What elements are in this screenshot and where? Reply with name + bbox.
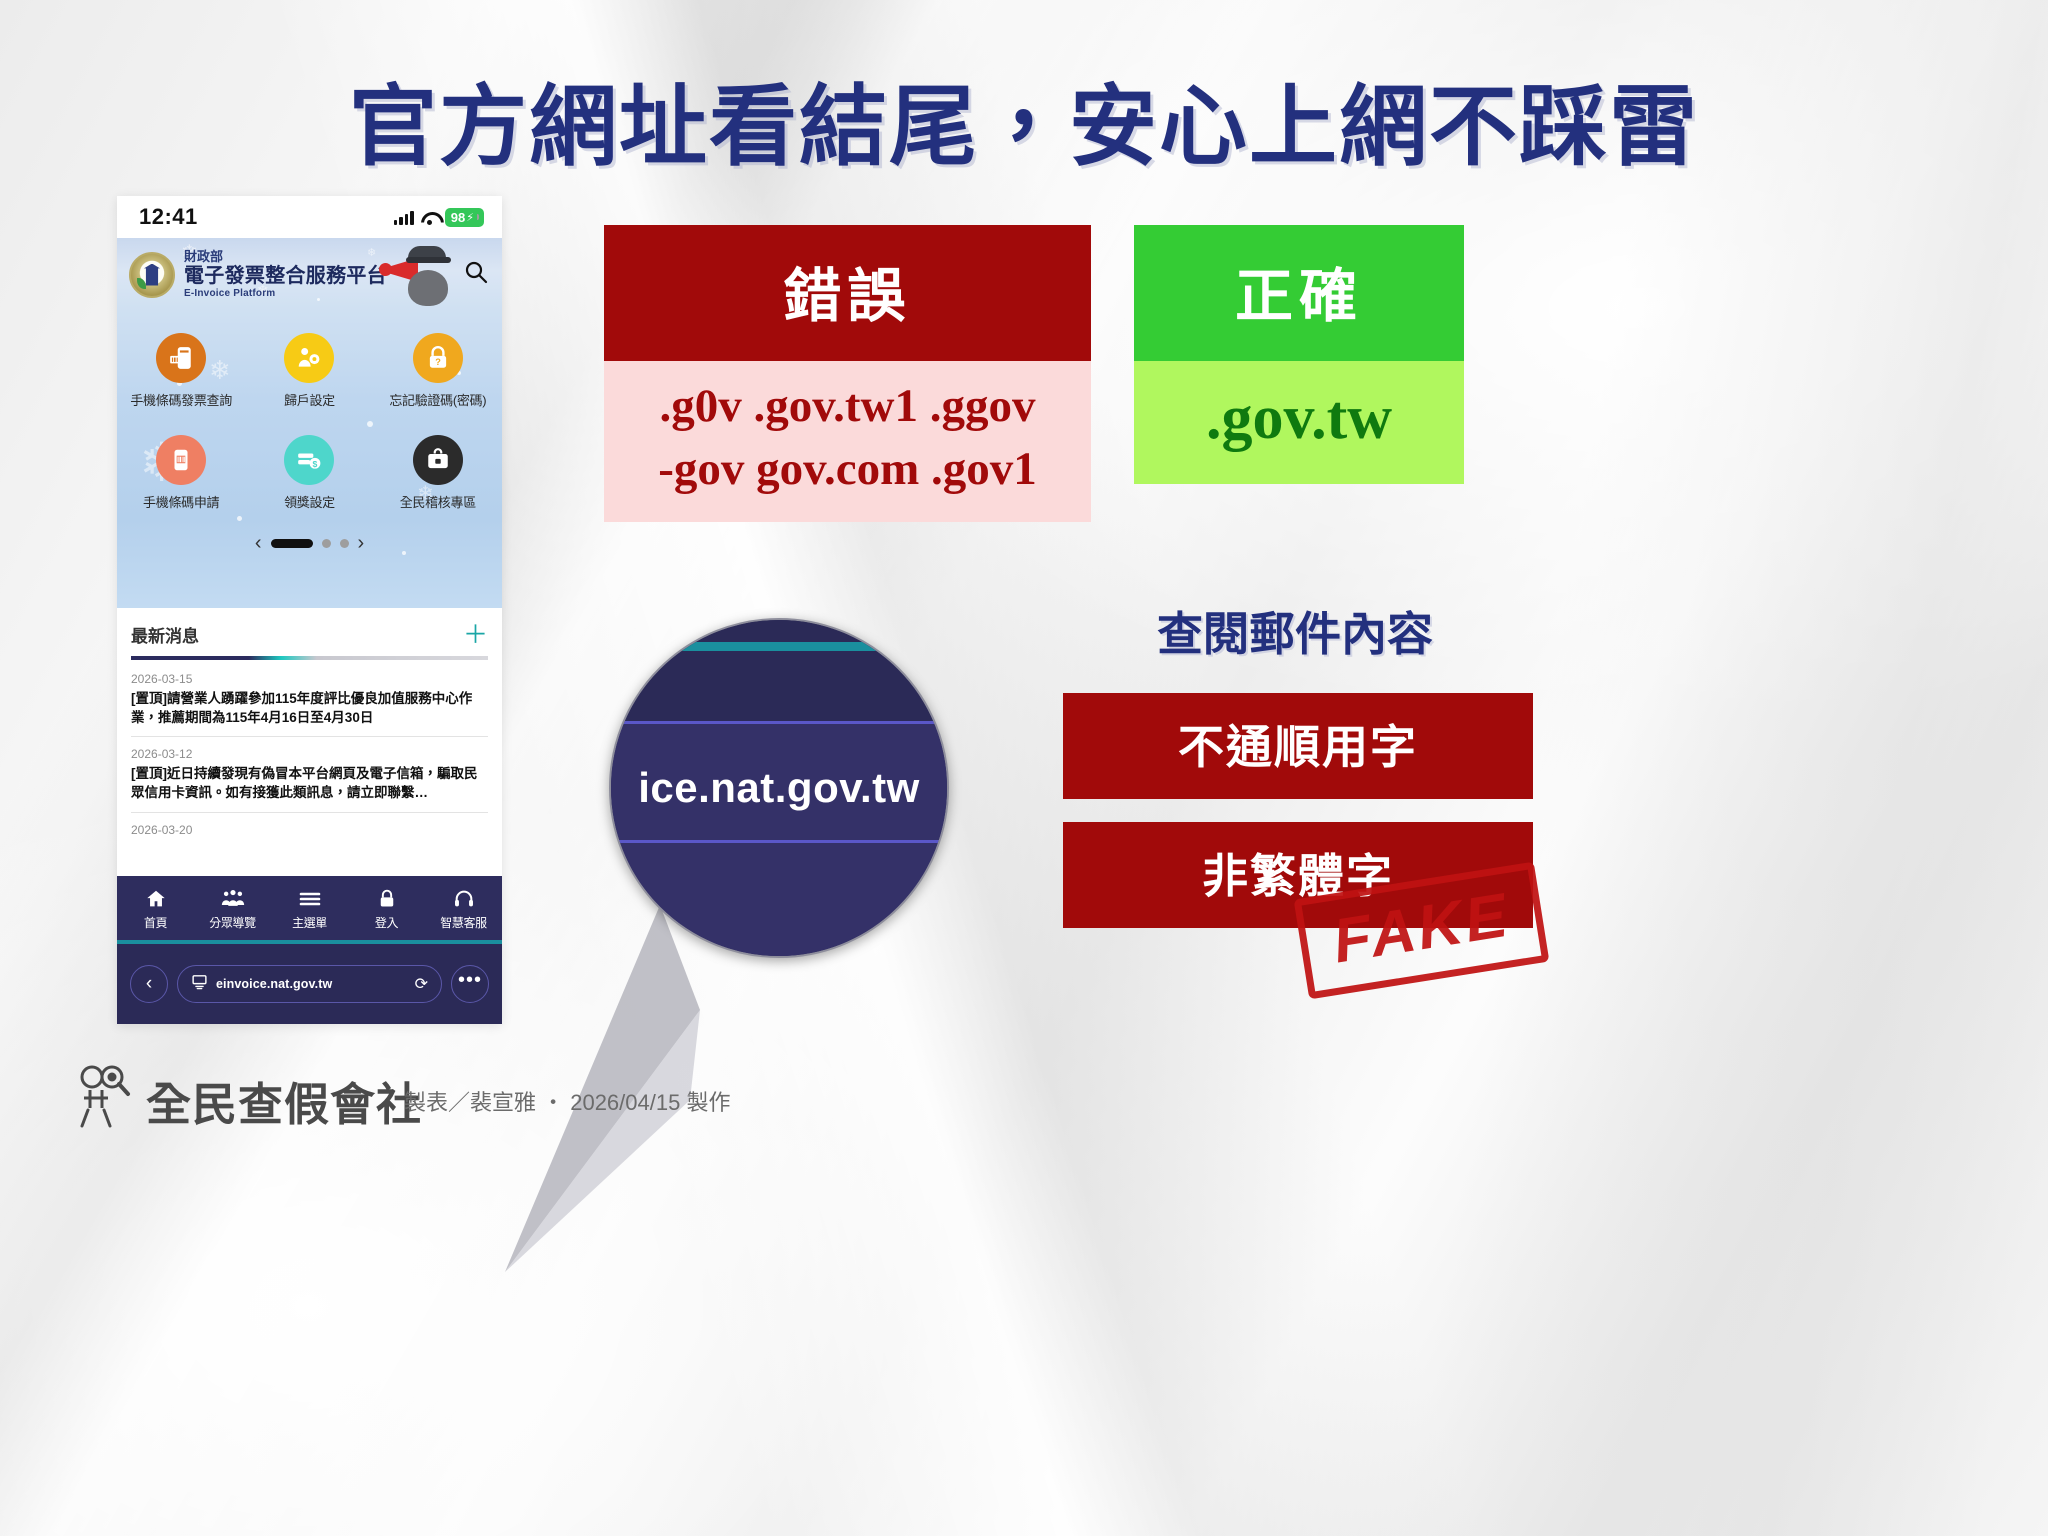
nav-item-support[interactable]: 智慧客服 xyxy=(425,886,502,931)
url-text: einvoice.nat.gov.tw xyxy=(216,977,332,991)
news-divider xyxy=(131,656,488,660)
quick-action-item[interactable]: 手機條碼發票查詢 xyxy=(123,333,239,409)
platform-name-en: E-Invoice Platform xyxy=(184,288,387,299)
mascot-megaphone-icon xyxy=(388,244,450,306)
carousel-pager[interactable]: ‹ › xyxy=(117,533,502,553)
wifi-icon xyxy=(421,211,438,224)
ministry-of-finance-emblem-icon xyxy=(129,252,175,298)
fact-check-logo-icon xyxy=(78,1064,138,1128)
quick-action-label: 手機條碼發票查詢 xyxy=(123,390,239,409)
hamburger-menu-icon xyxy=(271,886,348,912)
phone-mockup: 12:41 98 ⚡ ❄ ❄ ❄ 財政部 電子發票整合服務平台 E-Invoic… xyxy=(117,196,502,1024)
bottom-navigation: 首頁 分眾導覽 主選單 xyxy=(117,876,502,940)
app-header-banner: ❄ ❄ ❄ 財政部 電子發票整合服務平台 E-Invoice Platform xyxy=(117,238,502,311)
chevron-left-icon[interactable]: ‹ xyxy=(255,533,262,553)
headset-icon xyxy=(425,886,502,912)
quick-action-label: 忘記驗證碼(密碼) xyxy=(380,390,496,409)
plus-icon[interactable]: ＋ xyxy=(463,625,488,645)
news-date: 2026-03-12 xyxy=(131,747,488,761)
quick-action-item[interactable]: 全民稽核專區 xyxy=(380,435,496,511)
quick-action-row-2: 手機條碼申請 $ 領獎設定 xyxy=(117,435,502,511)
correct-caption: 正確 xyxy=(1134,225,1464,361)
news-text: [置頂]近日持續發現有偽冒本平台網頁及電子信箱，騙取民眾信用卡資訊。如有接獲此類… xyxy=(131,764,488,802)
quick-action-item[interactable]: $ 領獎設定 xyxy=(251,435,367,511)
quick-action-label: 歸戶設定 xyxy=(251,390,367,409)
home-icon xyxy=(117,886,194,912)
news-header: 最新消息 ＋ xyxy=(131,622,488,647)
battery-level: 98 xyxy=(451,210,465,225)
news-heading: 最新消息 xyxy=(131,622,199,647)
chevron-right-icon[interactable]: › xyxy=(358,533,365,553)
news-list-item[interactable]: 2026-03-12 [置頂]近日持續發現有偽冒本平台網頁及電子信箱，騙取民眾信… xyxy=(131,737,488,812)
nav-label: 首頁 xyxy=(117,914,194,931)
quick-action-label: 全民稽核專區 xyxy=(380,492,496,511)
audit-bag-icon xyxy=(413,435,463,485)
person-gear-icon xyxy=(284,333,334,383)
money-card-icon: $ xyxy=(284,435,334,485)
nav-item-guide[interactable]: 分眾導覽 xyxy=(194,886,271,931)
wrong-domain-line-2: -gov gov.com .gov1 xyxy=(614,438,1081,501)
nav-item-login[interactable]: 登入 xyxy=(348,886,425,931)
app-header-text: 財政部 電子發票整合服務平台 E-Invoice Platform xyxy=(184,250,387,300)
nav-label: 登入 xyxy=(348,914,425,931)
lock-icon xyxy=(348,886,425,912)
news-text: [置頂]請營業人踴躍參加115年度評比優良加值服務中心作業，推薦期間為115年4… xyxy=(131,689,488,727)
news-section: 最新消息 ＋ 2026-03-15 [置頂]請營業人踴躍參加115年度評比優良加… xyxy=(117,608,502,849)
platform-name: 電子發票整合服務平台 xyxy=(184,264,387,288)
quick-action-item[interactable]: 歸戶設定 xyxy=(251,333,367,409)
page-title: 官方網址看結尾，安心上網不踩雷 xyxy=(0,56,2048,183)
status-time: 12:41 xyxy=(139,204,198,230)
barcode-phone-icon xyxy=(156,333,206,383)
nav-label: 分眾導覽 xyxy=(194,914,271,931)
wrong-caption: 錯誤 xyxy=(604,225,1091,361)
people-group-icon xyxy=(194,886,271,912)
wrong-domain-line-1: .g0v .gov.tw1 .ggov xyxy=(614,375,1081,438)
mail-warning-item: 不通順用字 xyxy=(1063,693,1533,799)
nav-label: 智慧客服 xyxy=(425,914,502,931)
reload-icon[interactable]: ⟳ xyxy=(415,974,428,994)
url-magnifier: ice.nat.gov.tw xyxy=(609,618,949,958)
more-dots-icon[interactable]: ••• xyxy=(451,965,489,1003)
quick-action-grid: ❄ ❄ ❄ 手機條碼發票查詢 xyxy=(117,311,502,608)
barcode-apply-icon xyxy=(156,435,206,485)
lock-question-icon: ? xyxy=(413,333,463,383)
signal-icon xyxy=(394,210,414,225)
news-date: 2026-03-15 xyxy=(131,672,488,686)
news-list-item[interactable]: 2026-03-15 [置頂]請營業人踴躍參加115年度評比優良加值服務中心作業… xyxy=(131,662,488,737)
quick-action-item[interactable]: ? 忘記驗證碼(密碼) xyxy=(380,333,496,409)
footer-credit: 製表／裴宣雅 ・ 2026/04/15 製作 xyxy=(404,1085,730,1117)
mail-section-heading: 查閱郵件內容 xyxy=(1060,598,1530,664)
carousel-dot[interactable] xyxy=(322,539,331,548)
news-list-item[interactable]: 2026-03-20 xyxy=(131,813,488,849)
footer-brand: 全民查假會社 xyxy=(146,1068,422,1133)
chevron-left-icon[interactable]: ‹ xyxy=(130,965,168,1003)
browser-url-bar: ‹ einvoice.nat.gov.tw ⟳ ••• xyxy=(117,944,502,1024)
desktop-icon xyxy=(191,973,208,995)
status-indicators: 98 ⚡ xyxy=(394,208,484,227)
carousel-dot[interactable] xyxy=(340,539,349,548)
magnified-url-text: ice.nat.gov.tw xyxy=(611,764,947,812)
svg-text:?: ? xyxy=(435,357,441,367)
svg-text:$: $ xyxy=(313,459,318,469)
correct-domain-text: .gov.tw xyxy=(1134,361,1464,484)
phone-status-bar: 12:41 98 ⚡ xyxy=(117,196,502,238)
quick-action-row-1: 手機條碼發票查詢 歸戶設定 ? xyxy=(117,333,502,409)
url-field[interactable]: einvoice.nat.gov.tw ⟳ xyxy=(177,965,442,1003)
quick-action-label: 手機條碼申請 xyxy=(123,492,239,511)
carousel-active-indicator[interactable] xyxy=(271,539,313,548)
nav-label: 主選單 xyxy=(271,914,348,931)
wrong-domain-box: 錯誤 .g0v .gov.tw1 .ggov -gov gov.com .gov… xyxy=(604,225,1091,522)
news-date: 2026-03-20 xyxy=(131,823,488,837)
quick-action-label: 領獎設定 xyxy=(251,492,367,511)
battery-badge: 98 ⚡ xyxy=(445,208,484,227)
quick-action-item[interactable]: 手機條碼申請 xyxy=(123,435,239,511)
wrong-domain-list: .g0v .gov.tw1 .ggov -gov gov.com .gov1 xyxy=(604,361,1091,522)
search-icon[interactable] xyxy=(464,260,488,289)
correct-domain-box: 正確 .gov.tw xyxy=(1134,225,1464,484)
nav-item-menu[interactable]: 主選單 xyxy=(271,886,348,931)
nav-item-home[interactable]: 首頁 xyxy=(117,886,194,931)
agency-name: 財政部 xyxy=(184,250,387,265)
